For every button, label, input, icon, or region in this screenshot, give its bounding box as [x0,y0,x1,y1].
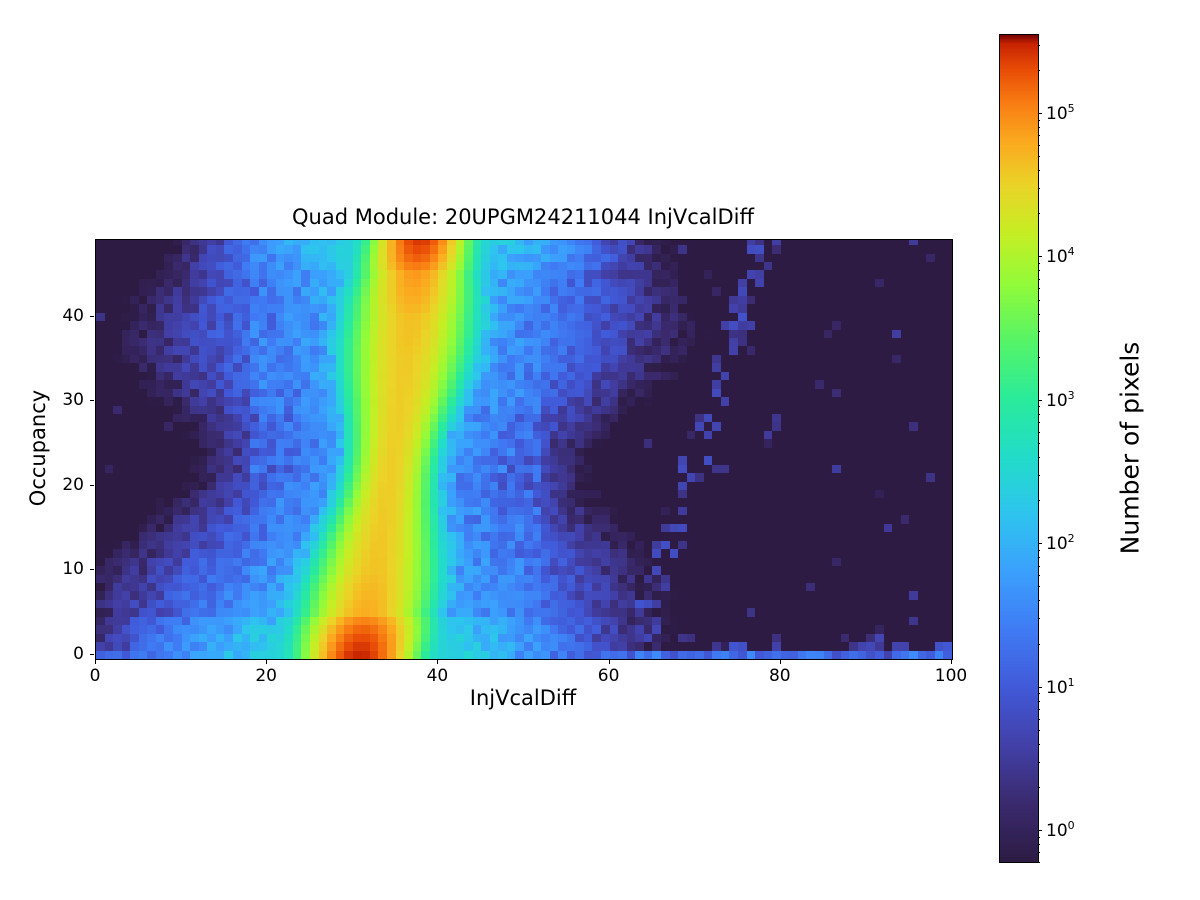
x-tick-label: 20 [255,666,277,686]
colorbar-minor-tick [1038,331,1040,332]
colorbar-gradient[interactable] [1000,35,1038,862]
y-axis-label: Occupancy [26,390,50,506]
colorbar-minor-tick [1038,475,1040,476]
colorbar-minor-tick [1038,586,1040,587]
colorbar-minor-tick [1038,457,1040,458]
colorbar-minor-tick [1038,837,1040,838]
colorbar-minor-tick [1038,314,1040,315]
colorbar-minor-tick [1038,170,1040,171]
colorbar-minor-tick [1038,422,1040,423]
y-tick-label: 0 [73,644,84,664]
colorbar-minor-tick [1038,145,1040,146]
y-tick-mark [90,316,94,317]
colorbar-minor-tick [1038,357,1040,358]
x-tick-label: 60 [598,666,620,686]
y-tick-mark [90,400,94,401]
colorbar-minor-tick [1038,279,1040,280]
colorbar-minor-tick [1038,213,1040,214]
colorbar-minor-tick [1038,263,1040,264]
colorbar-minor-tick [1038,156,1040,157]
colorbar-minor-tick [1038,288,1040,289]
x-tick-mark [951,660,952,664]
colorbar-tick-mark [1038,687,1042,688]
colorbar-minor-tick [1038,762,1040,763]
figure-canvas: Quad Module: 20UPGM24211044 InjVcalDiff … [0,0,1200,900]
x-tick-label: 80 [769,666,791,686]
colorbar-minor-tick [1038,730,1040,731]
colorbar-minor-tick [1038,443,1040,444]
colorbar-minor-tick [1038,270,1040,271]
y-tick-label: 20 [62,475,84,495]
colorbar-label: Number of pixels [1116,342,1145,555]
colorbar-tick-mark [1038,256,1042,257]
colorbar-tick-label: 103 [1046,389,1075,411]
colorbar-minor-tick [1038,618,1040,619]
colorbar-minor-tick [1038,709,1040,710]
colorbar-minor-tick [1038,701,1040,702]
colorbar-minor-tick [1038,600,1040,601]
colorbar-tick-label: 105 [1046,102,1075,124]
colorbar-minor-tick [1038,719,1040,720]
colorbar-tick-label: 104 [1046,246,1075,268]
x-tick-mark [609,660,610,664]
y-tick-label: 30 [62,390,84,410]
colorbar-minor-tick [1038,852,1040,853]
x-tick-mark [266,660,267,664]
colorbar-minor-tick [1038,862,1040,863]
colorbar-minor-tick [1038,844,1040,845]
x-tick-label: 40 [427,666,449,686]
colorbar-minor-tick [1038,300,1040,301]
colorbar-minor-tick [1038,406,1040,407]
colorbar-tick-label: 102 [1046,532,1075,554]
colorbar-minor-tick [1038,414,1040,415]
colorbar-minor-tick [1038,557,1040,558]
colorbar-minor-tick [1038,188,1040,189]
colorbar-minor-tick [1038,744,1040,745]
colorbar-minor-tick [1038,45,1040,46]
colorbar-minor-tick [1038,135,1040,136]
colorbar-minor-tick [1038,566,1040,567]
colorbar-minor-tick [1038,693,1040,694]
colorbar-tick-mark [1038,400,1042,401]
x-tick-mark [437,660,438,664]
y-tick-label: 40 [62,306,84,326]
x-tick-mark [95,660,96,664]
colorbar-tick-mark [1038,830,1042,831]
colorbar-minor-tick [1038,550,1040,551]
x-tick-label: 0 [90,666,101,686]
colorbar-tick-mark [1038,113,1042,114]
colorbar-tick-label: 101 [1046,676,1075,698]
colorbar-minor-tick [1038,787,1040,788]
colorbar-minor-tick [1038,500,1040,501]
colorbar-minor-tick [1038,575,1040,576]
colorbar-tick-label: 100 [1046,819,1075,841]
colorbar-tick-mark [1038,543,1042,544]
y-tick-mark [90,485,94,486]
colorbar-minor-tick [1038,432,1040,433]
x-tick-label: 100 [935,666,967,686]
colorbar-minor-tick [1038,644,1040,645]
heatmap-plot-area[interactable] [96,240,952,659]
x-tick-mark [780,660,781,664]
x-axis-label: InjVcalDiff [95,686,951,710]
page-title: Quad Module: 20UPGM24211044 InjVcalDiff [95,205,951,229]
colorbar-minor-tick [1038,70,1040,71]
heatmap-axes[interactable] [95,239,953,660]
colorbar[interactable] [1000,35,1038,862]
y-tick-mark [90,654,94,655]
y-tick-label: 10 [62,559,84,579]
colorbar-minor-tick [1038,127,1040,128]
colorbar-minor-tick [1038,120,1040,121]
y-tick-mark [90,569,94,570]
